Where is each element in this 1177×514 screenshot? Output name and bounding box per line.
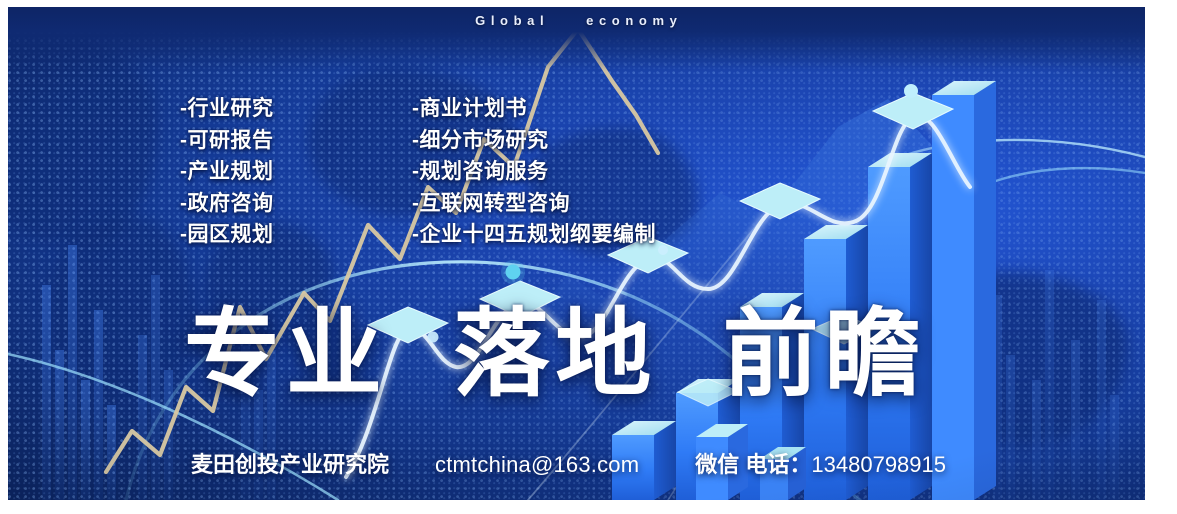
company-name: 麦田创投产业研究院 (191, 447, 389, 479)
tagline-global-economy: G l o b a l e c o n o m y (8, 7, 1145, 35)
service-item: -商业计划书 (412, 93, 656, 125)
contact-phone[interactable]: 13480798915 (811, 452, 946, 478)
services-column-left: -行业研究 -可研报告 -产业规划 -政府咨询 -园区规划 (180, 93, 274, 251)
headline-slogan: 专业 落地 前瞻 (184, 303, 927, 407)
contact-label: 微信 电话： (695, 447, 811, 479)
service-item: -细分市场研究 (412, 125, 656, 157)
service-item: -政府咨询 (180, 188, 274, 220)
footer-contact-bar: 麦田创投产业研究院 ctmtchina@163.com 微信 电话： 13480… (191, 447, 946, 479)
service-item: -规划咨询服务 (412, 156, 656, 188)
service-item: -园区规划 (180, 219, 274, 251)
service-item: -企业十四五规划纲要编制 (412, 219, 656, 251)
services-column-right: -商业计划书 -细分市场研究 -规划咨询服务 -互联网转型咨询 -企业十四五规划… (412, 93, 656, 251)
service-item: -可研报告 (180, 125, 274, 157)
top-dark-strip (8, 7, 1145, 500)
contact-email[interactable]: ctmtchina@163.com (435, 452, 639, 478)
service-item: -行业研究 (180, 93, 274, 125)
promo-banner: G l o b a l e c o n o m y -行业研究 -可研报告 -产… (8, 7, 1145, 500)
service-item: -产业规划 (180, 156, 274, 188)
service-item: -互联网转型咨询 (412, 188, 656, 220)
